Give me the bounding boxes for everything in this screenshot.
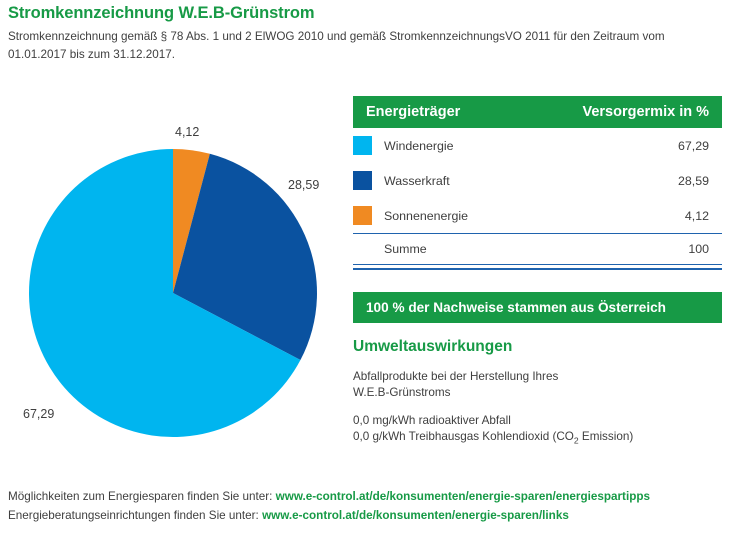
footer-energiespartipps-line: Möglichkeiten zum Energiesparen finden S… (8, 490, 650, 503)
table-row: Windenergie67,29 (353, 128, 722, 163)
co2-suffix: Emission) (579, 430, 634, 443)
table-bottom-rule (353, 268, 722, 270)
summe-label: Summe (353, 242, 688, 256)
swatch-wind (353, 136, 372, 155)
swatch-hydro (353, 171, 372, 190)
footer-link-energie-sparen-links[interactable]: www.e-control.at/de/konsumenten/energie-… (262, 509, 569, 522)
pie-slices (29, 149, 317, 437)
energy-mix-table: Energieträger Versorgermix in % Windener… (353, 96, 722, 270)
impact-radioactive-waste: 0,0 mg/kWh radioaktiver Abfall (353, 414, 511, 427)
swatch-solar (353, 206, 372, 225)
table-header-energietraeger: Energieträger (366, 104, 460, 120)
impact-co2-emission: 0,0 g/kWh Treibhausgas Kohlendioxid (CO2… (353, 430, 633, 445)
table-row-label: Wasserkraft (384, 174, 678, 188)
pie-label-sonnenenergie: 4,12 (175, 125, 199, 139)
table-row: Sonnenenergie4,12 (353, 198, 722, 233)
intro-text-line-2: 01.01.2017 bis zum 31.12.2017. (8, 48, 175, 61)
footer-link-energiespartipps[interactable]: www.e-control.at/de/konsumenten/energie-… (276, 490, 650, 503)
table-row-value: 4,12 (685, 209, 709, 223)
footer-label-2: Energieberatungseinrichtungen finden Sie… (8, 509, 262, 522)
table-row-value: 28,59 (678, 174, 709, 188)
pie-label-wasserkraft: 28,59 (288, 178, 319, 192)
certificates-origin-banner: 100 % der Nachweise stammen aus Österrei… (353, 292, 722, 323)
table-header-bar: Energieträger Versorgermix in % (353, 96, 722, 128)
table-row-label: Sonnenenergie (384, 209, 685, 223)
table-row-summe: Summe 100 (353, 233, 722, 265)
umweltauswirkungen-heading: Umweltauswirkungen (353, 338, 512, 356)
footer-energieberatung-line: Energieberatungseinrichtungen finden Sie… (8, 509, 569, 522)
impact-description-line-1: Abfallprodukte bei der Herstellung Ihres (353, 370, 558, 383)
page-title: Stromkennzeichnung W.E.B-Grünstrom (8, 4, 314, 23)
footer-label-1: Möglichkeiten zum Energiesparen finden S… (8, 490, 276, 503)
intro-text-line-1: Stromkennzeichnung gemäß § 78 Abs. 1 und… (8, 30, 665, 43)
table-body: Windenergie67,29Wasserkraft28,59Sonnenen… (353, 128, 722, 233)
table-header-versorgermix: Versorgermix in % (582, 104, 709, 120)
summe-value: 100 (688, 242, 709, 256)
co2-prefix: 0,0 g/kWh Treibhausgas Kohlendioxid (CO (353, 430, 574, 443)
table-row-value: 67,29 (678, 139, 709, 153)
table-row: Wasserkraft28,59 (353, 163, 722, 198)
impact-description-line-2: W.E.B-Grünstroms (353, 386, 450, 399)
pie-label-windenergie: 67,29 (23, 407, 54, 421)
energy-mix-pie-chart: 4,12 28,59 67,29 (10, 110, 340, 460)
pie-chart-svg (10, 110, 340, 460)
table-row-label: Windenergie (384, 139, 678, 153)
